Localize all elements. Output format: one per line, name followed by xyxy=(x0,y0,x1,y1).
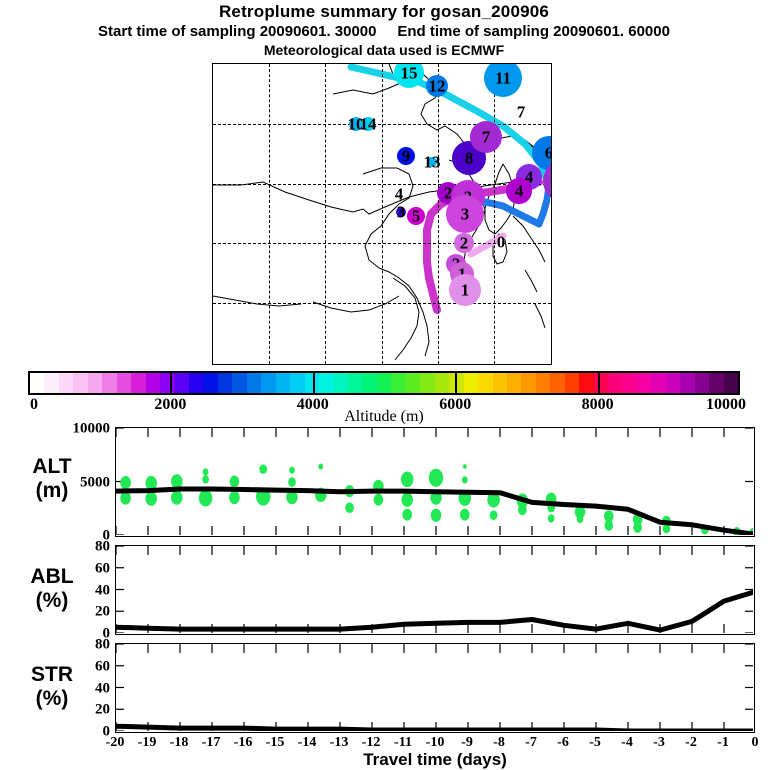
map-gridline-vertical xyxy=(382,64,383,364)
map-gridline-vertical xyxy=(494,64,495,364)
map-gridline-horizontal xyxy=(213,124,551,125)
colorbar-segment xyxy=(695,373,709,393)
map-day-label: 4 xyxy=(515,183,524,200)
colorbar-segment xyxy=(478,373,492,393)
xaxis-tick-label: -11 xyxy=(394,735,412,751)
colorbar-segment xyxy=(362,373,376,393)
alt-particle-marker xyxy=(288,477,296,487)
xaxis-tick-label: -5 xyxy=(589,735,601,751)
alt-particle-marker xyxy=(202,475,209,483)
colorbar-segment xyxy=(623,373,637,393)
map-day-label: 5 xyxy=(412,208,421,225)
colorbar-segment xyxy=(334,373,348,393)
map-day-label: 3 xyxy=(397,204,406,221)
colorbar-division xyxy=(170,371,172,395)
sampling-time-line: Start time of sampling 20090601. 30000 E… xyxy=(0,22,768,41)
xaxis-tick-label: -20 xyxy=(106,735,125,751)
met-data-line: Meteorological data used is ECMWF xyxy=(0,41,768,59)
xaxis-tick-label: -1 xyxy=(717,735,729,751)
colorbar-tick-label: 0 xyxy=(30,396,38,414)
alt-particle-marker xyxy=(289,467,295,474)
colorbar-segment xyxy=(189,373,203,393)
abl-ytick-label: 40 xyxy=(95,582,110,599)
map-gridline-horizontal xyxy=(213,303,551,304)
colorbar-segment xyxy=(579,373,593,393)
altitude-colorbar xyxy=(28,371,740,395)
colorbar-division xyxy=(598,371,600,395)
colorbar-segment xyxy=(276,373,290,393)
colorbar-caption: Altitude (m) xyxy=(0,408,768,426)
xaxis-tick-label: -13 xyxy=(330,735,349,751)
xaxis-tick-label: -15 xyxy=(266,735,285,751)
abl-ytick-labels: 806040200 xyxy=(52,545,110,635)
colorbar-segment xyxy=(131,373,145,393)
abl-ytick-label: 20 xyxy=(95,604,110,621)
alt-particle-marker xyxy=(518,504,527,515)
alt-particle-marker xyxy=(318,464,323,470)
map-day-label: 15 xyxy=(401,65,418,82)
alt-particle-marker xyxy=(120,476,131,489)
map-day-label: 8 xyxy=(465,150,474,167)
colorbar-segment xyxy=(44,373,58,393)
map-day-label: 1 xyxy=(461,282,470,299)
map-panel[interactable]: 1512117610149138744443523322110 xyxy=(212,63,552,365)
alt-particle-marker xyxy=(462,476,468,483)
colorbar-segment xyxy=(709,373,723,393)
xaxis-tick-label: -19 xyxy=(138,735,157,751)
xaxis-tick-label: -4 xyxy=(621,735,633,751)
alt-particle-marker xyxy=(259,464,267,474)
alt-particle-marker xyxy=(490,510,498,520)
abl-ytick-label: 80 xyxy=(95,539,110,556)
map-day-label: 2 xyxy=(460,235,469,252)
colorbar-segment xyxy=(420,373,434,393)
xaxis-tick-label: 0 xyxy=(752,735,759,751)
alt-particle-marker xyxy=(171,490,183,504)
alt-particle-marker xyxy=(431,509,442,522)
colorbar-tick-label: 2000 xyxy=(154,396,186,414)
str-plot xyxy=(116,644,753,731)
colorbar-segment xyxy=(88,373,102,393)
colorbar-segment xyxy=(594,373,608,393)
colorbar-tick-label: 10000 xyxy=(706,396,746,414)
map-gridline-horizontal xyxy=(213,184,551,185)
colorbar-segment xyxy=(73,373,87,393)
xaxis-tick-label: -16 xyxy=(234,735,253,751)
str-line xyxy=(116,726,753,731)
colorbar-tick-label: 6000 xyxy=(439,396,471,414)
colorbar-segment xyxy=(247,373,261,393)
map-day-label: 0 xyxy=(497,234,506,251)
abl-plot xyxy=(116,546,753,633)
alt-particle-marker xyxy=(230,476,240,488)
colorbar-segment xyxy=(232,373,246,393)
map-gridline-vertical xyxy=(325,64,326,364)
colorbar-segment xyxy=(391,373,405,393)
colorbar-segment xyxy=(637,373,651,393)
xaxis-tick-label: -14 xyxy=(298,735,317,751)
colorbar-segment xyxy=(608,373,622,393)
map-day-label: 7 xyxy=(482,129,491,146)
colorbar-segment xyxy=(102,373,116,393)
xaxis-tick-label: -18 xyxy=(170,735,189,751)
alt-particle-marker xyxy=(577,515,584,523)
colorbar-segment xyxy=(435,373,449,393)
colorbar-segment xyxy=(290,373,304,393)
colorbar-segment xyxy=(261,373,275,393)
colorbar-segment xyxy=(59,373,73,393)
colorbar-division xyxy=(313,371,315,395)
colorbar-segment xyxy=(680,373,694,393)
colorbar-segment xyxy=(30,373,44,393)
map-gridline-vertical xyxy=(269,64,270,364)
alt-particle-marker xyxy=(548,514,555,522)
xaxis-tick-label: -12 xyxy=(362,735,381,751)
map-gridline-vertical xyxy=(438,64,439,364)
alt-plot xyxy=(116,428,753,535)
alt-particle-marker xyxy=(401,472,413,488)
alt-particle-marker xyxy=(145,491,157,505)
colorbar-division xyxy=(455,371,457,395)
colorbar-segment xyxy=(724,373,738,393)
colorbar-segment xyxy=(175,373,189,393)
colorbar-segment xyxy=(464,373,478,393)
colorbar-segment xyxy=(377,373,391,393)
colorbar-segment xyxy=(117,373,131,393)
colorbar-tick-label: 8000 xyxy=(582,396,614,414)
xaxis-title: Travel time (days) xyxy=(115,750,755,770)
map-day-label: 4 xyxy=(395,186,404,203)
alt-particle-marker xyxy=(429,469,443,487)
colorbar-tick-label: 4000 xyxy=(297,396,329,414)
alt-particle-marker xyxy=(604,520,613,531)
alt-particle-marker xyxy=(199,490,212,507)
alt-particle-marker xyxy=(401,492,413,506)
xaxis-tick-label: -8 xyxy=(493,735,505,751)
xaxis-tick-label: -10 xyxy=(426,735,445,751)
colorbar-segment xyxy=(146,373,160,393)
str-ytick-label: 60 xyxy=(95,658,110,675)
panel-abl[interactable] xyxy=(115,545,755,635)
map-day-label: 14 xyxy=(360,116,377,133)
colorbar-segment xyxy=(319,373,333,393)
map-day-label: 13 xyxy=(424,154,441,171)
colorbar-segment xyxy=(651,373,665,393)
panel-alt[interactable] xyxy=(115,427,755,537)
colorbar-segment xyxy=(565,373,579,393)
alt-particle-marker xyxy=(633,522,642,533)
map-day-label: 3 xyxy=(461,206,470,223)
map-day-label: 7 xyxy=(517,104,526,121)
page-title: Retroplume summary for gosan_200906 xyxy=(0,2,768,22)
alt-ytick-label: 5000 xyxy=(80,474,110,491)
map-day-label: 6 xyxy=(545,145,552,162)
panel-str[interactable] xyxy=(115,643,755,733)
xaxis-tick-label: -9 xyxy=(461,735,473,751)
alt-particle-marker xyxy=(229,491,240,504)
map-day-label: 9 xyxy=(402,148,411,165)
alt-particle-marker xyxy=(203,468,209,475)
alt-particle-marker xyxy=(402,509,412,521)
str-ytick-labels: 806040200 xyxy=(52,643,110,733)
alt-particle-marker xyxy=(374,494,384,506)
xaxis-tick-label: -2 xyxy=(685,735,697,751)
alt-ytick-labels: 1000050000 xyxy=(52,427,110,537)
abl-ytick-label: 60 xyxy=(95,560,110,577)
alt-particle-marker xyxy=(345,502,354,513)
map-day-label: 11 xyxy=(495,70,511,87)
alt-particle-marker xyxy=(463,464,467,469)
colorbar-segment xyxy=(406,373,420,393)
xaxis-tick-label: -17 xyxy=(202,735,221,751)
colorbar-segment xyxy=(348,373,362,393)
colorbar-segment xyxy=(666,373,680,393)
colorbar-segment xyxy=(218,373,232,393)
xaxis-tick-label: -3 xyxy=(653,735,665,751)
colorbar-segment xyxy=(493,373,507,393)
str-ytick-label: 40 xyxy=(95,680,110,697)
map-day-label: 12 xyxy=(429,78,446,95)
alt-ytick-label: 10000 xyxy=(73,421,111,438)
colorbar-segment xyxy=(550,373,564,393)
str-ytick-label: 20 xyxy=(95,702,110,719)
colorbar-segment xyxy=(507,373,521,393)
title-block: Retroplume summary for gosan_200906 Star… xyxy=(0,2,768,59)
str-ytick-label: 80 xyxy=(95,637,110,654)
xaxis-tick-label: -6 xyxy=(557,735,569,751)
colorbar-segment xyxy=(536,373,550,393)
xaxis-tick-label: -7 xyxy=(525,735,537,751)
alt-particle-marker xyxy=(460,509,470,521)
colorbar-segment xyxy=(203,373,217,393)
colorbar-segment xyxy=(521,373,535,393)
